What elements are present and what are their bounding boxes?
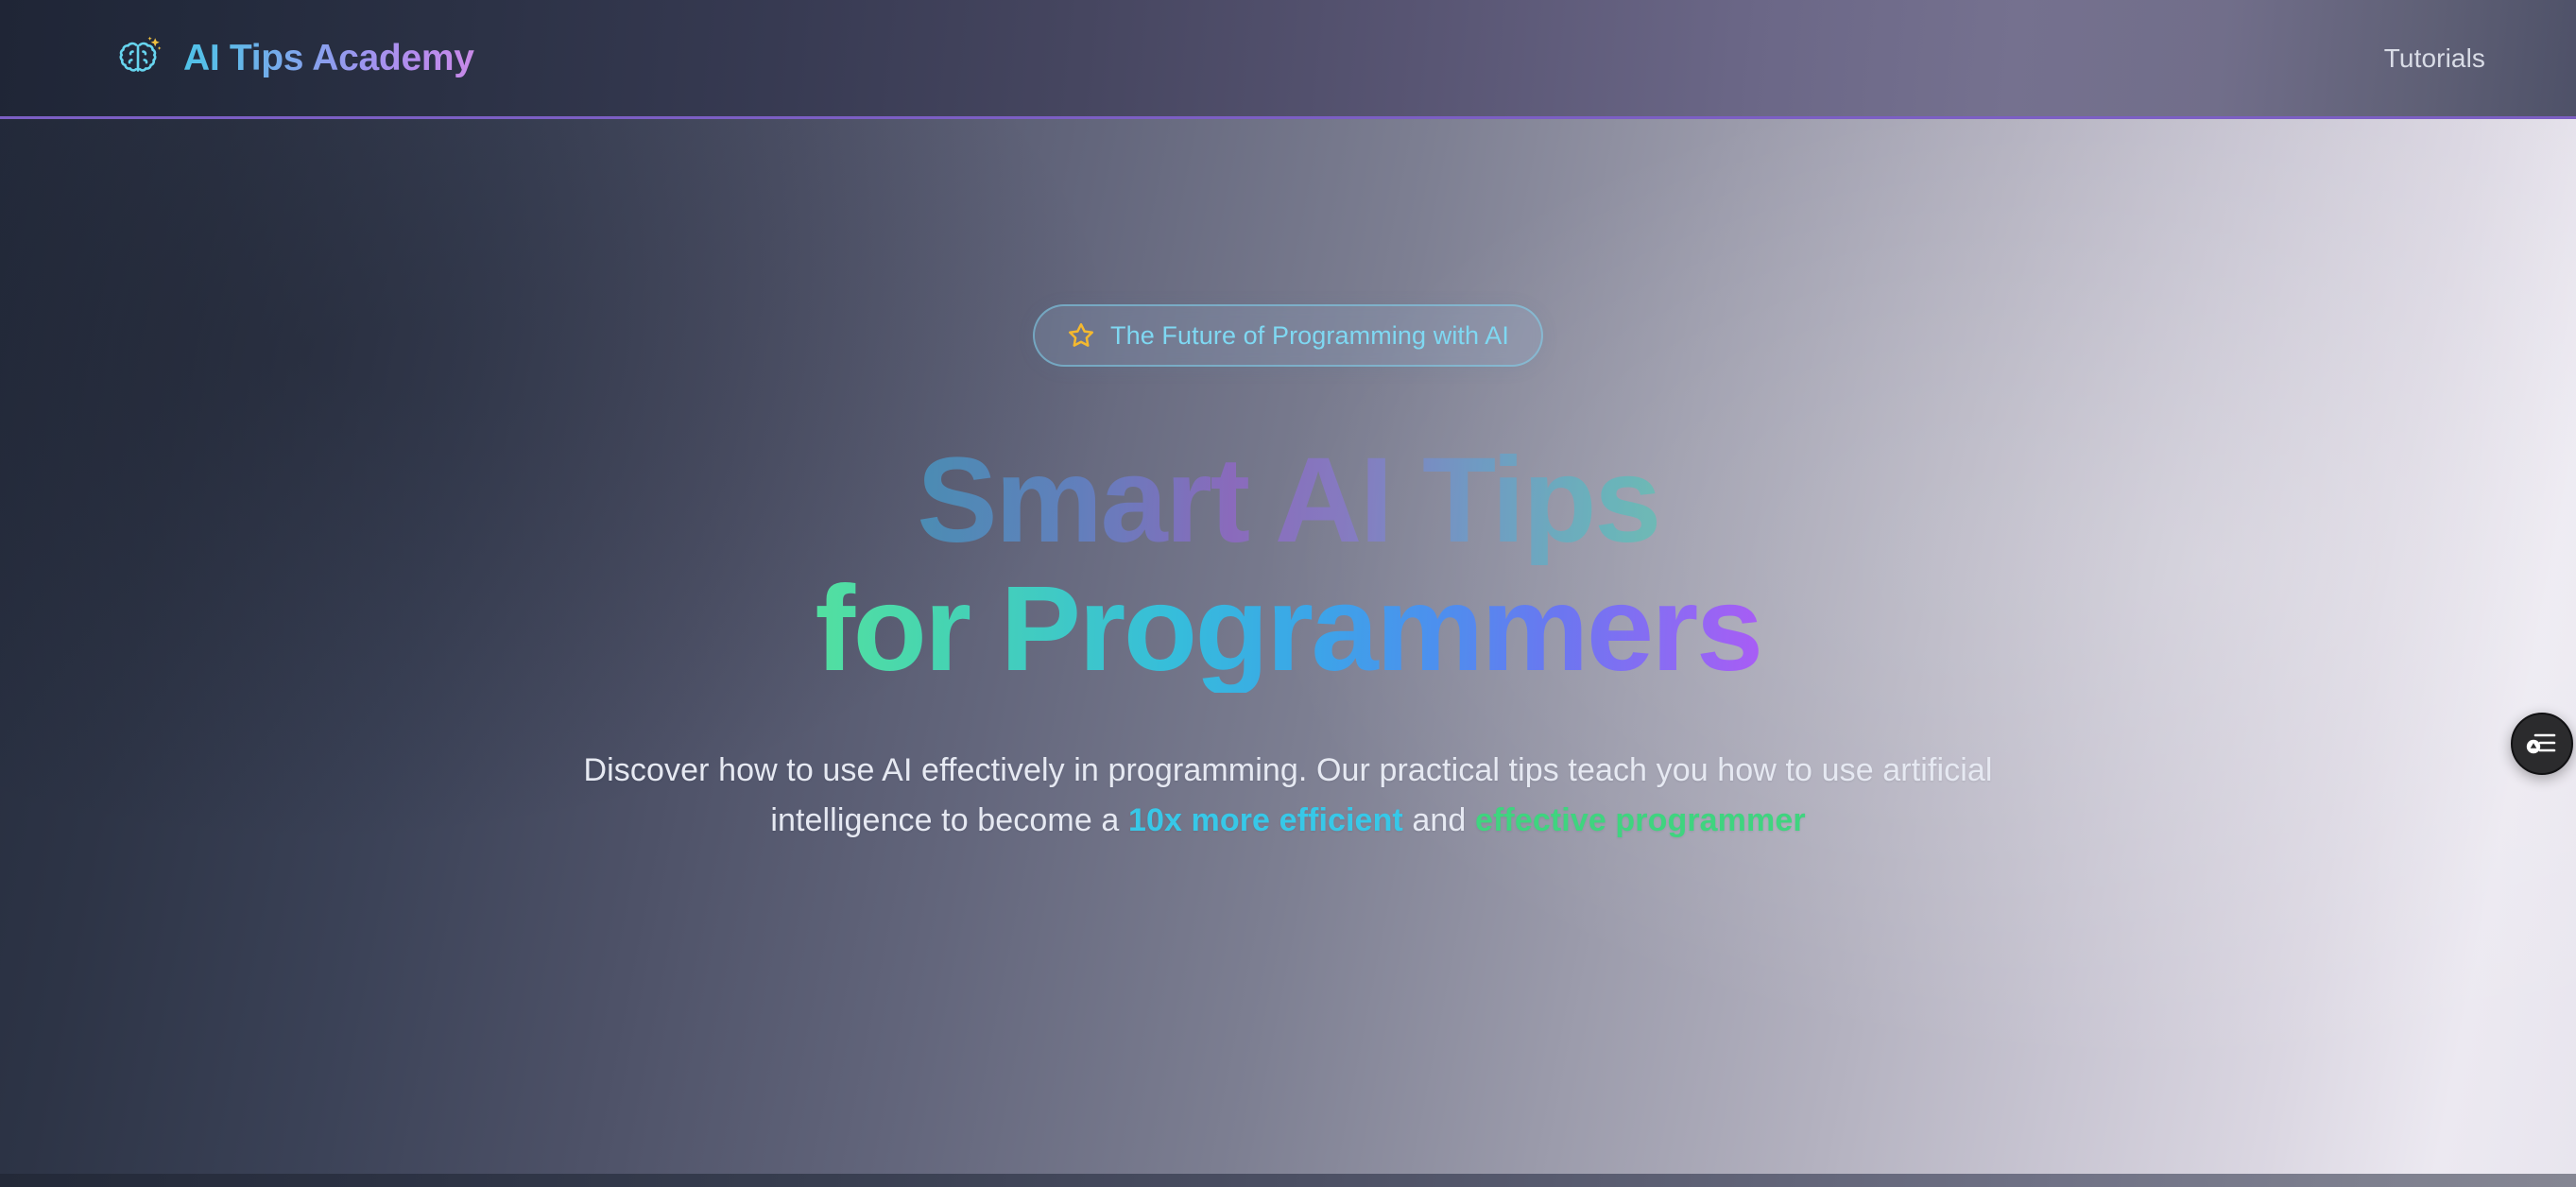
subtitle-part-2: and — [1403, 802, 1475, 838]
subtitle-highlight-efficiency: 10x more efficient — [1128, 802, 1403, 838]
page-title: Smart AI Tips for Programmers — [815, 437, 1760, 693]
brand-logo-link[interactable]: AI Tips Academy — [113, 34, 474, 83]
hero-badge-label: The Future of Programming with AI — [1110, 321, 1509, 351]
hero-badge[interactable]: The Future of Programming with AI — [1033, 304, 1543, 367]
nav-link-tutorials[interactable]: Tutorials — [2384, 43, 2485, 74]
brand-name: AI Tips Academy — [183, 38, 474, 79]
title-line-2: for Programmers — [815, 565, 1760, 694]
playlist-play-icon — [2525, 730, 2559, 758]
title-line-1: Smart AI Tips — [815, 437, 1760, 565]
page-root: AI Tips Academy Tutorials The Future of … — [0, 0, 2576, 1187]
primary-nav: Tutorials — [2384, 43, 2485, 74]
brain-sparkle-icon — [113, 34, 163, 83]
site-header: AI Tips Academy Tutorials — [0, 0, 2576, 119]
subtitle-highlight-programmer: effective programmer — [1475, 802, 1806, 838]
star-icon — [1067, 321, 1095, 350]
floating-playlist-button[interactable] — [2511, 713, 2573, 775]
hero-subtitle: Discover how to use AI effectively in pr… — [565, 746, 2011, 846]
hero-section: The Future of Programming with AI Smart … — [0, 119, 2576, 1174]
next-section-band — [0, 1174, 2576, 1187]
